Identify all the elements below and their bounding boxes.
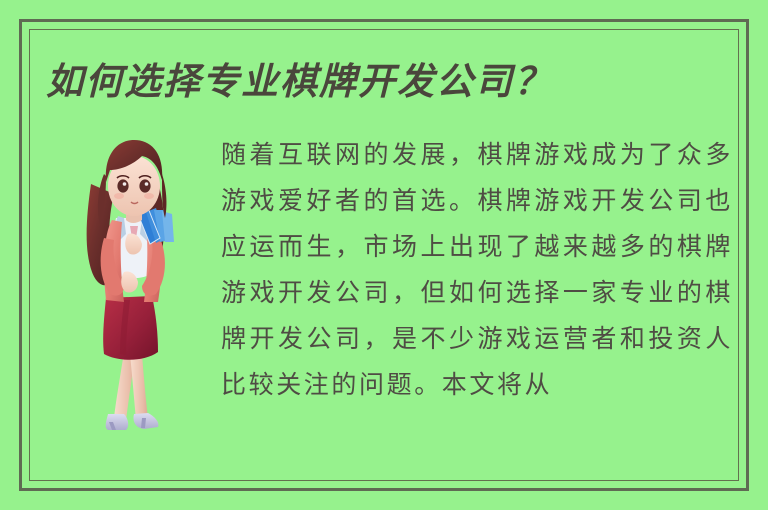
- article-paragraph: 随着互联网的发展，棋牌游戏成为了众多游戏爱好者的首选。棋牌游戏开发公司也应运而生…: [221, 132, 733, 408]
- illustration-anime-girl-with-cards: [62, 122, 222, 432]
- page-title: 如何选择专业棋牌开发公司？: [46, 58, 706, 104]
- eye-left: [117, 179, 128, 192]
- eye-right: [139, 179, 150, 192]
- skirt: [103, 296, 158, 360]
- poster-canvas: 如何选择专业棋牌开发公司？: [0, 0, 768, 510]
- shoe-right: [133, 413, 158, 429]
- leg-right: [130, 354, 148, 420]
